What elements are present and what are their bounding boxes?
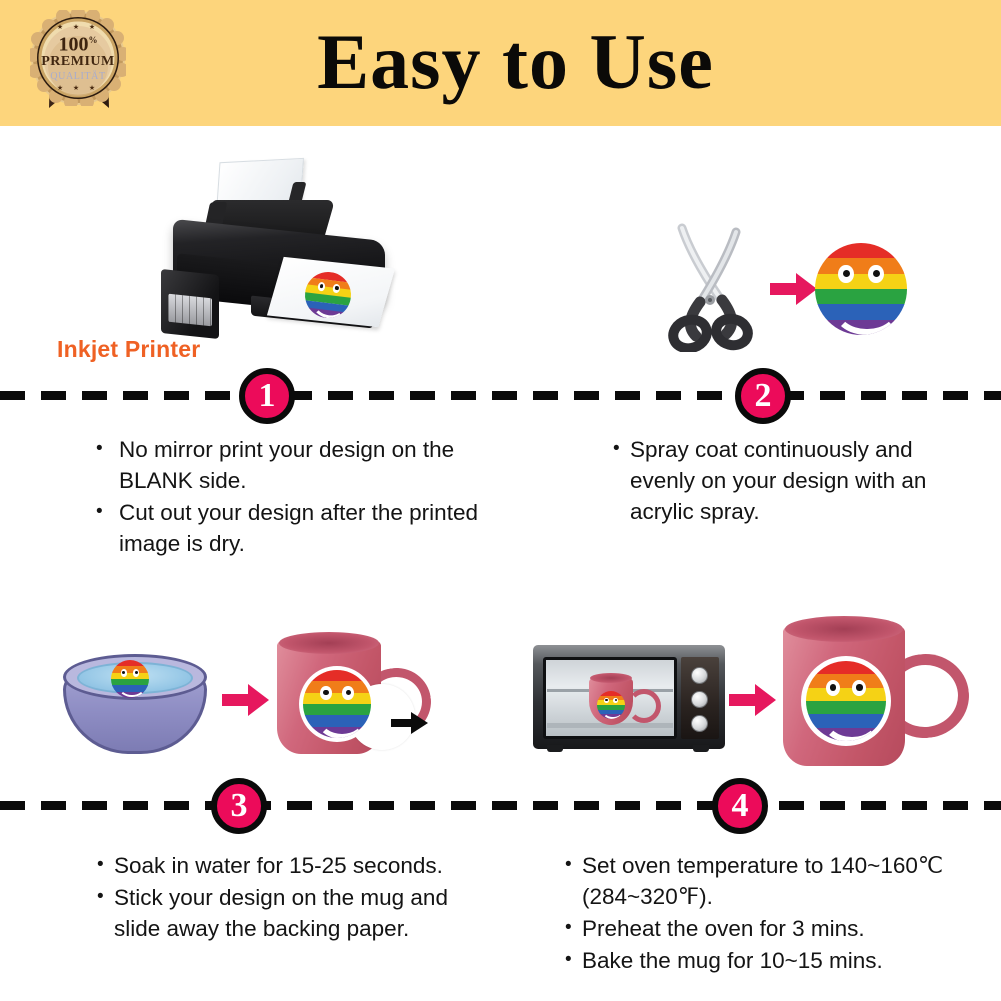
rainbow-smiley-on-final-mug (806, 661, 886, 741)
step-3-text: Soak in water for 15-25 seconds. Stick y… (97, 850, 497, 945)
step-number-4: 4 (712, 778, 768, 834)
rainbow-smiley-on-mug3 (303, 670, 371, 738)
step-2-text: Spray coat continuously and evenly on yo… (613, 434, 963, 528)
rainbow-smiley-decal-soaking (111, 660, 149, 698)
rainbow-smiley-on-oven-mug (597, 691, 625, 719)
oven-knob-1[interactable] (691, 667, 708, 684)
smiley-stripe (806, 661, 886, 675)
smiley-pupil-right (856, 684, 862, 690)
rainbow-smiley-decal-step2 (815, 243, 907, 335)
smiley-mouth (821, 693, 883, 741)
step-4-text: Set oven temperature to 140~160℃ (284~32… (565, 850, 965, 977)
smiley-mouth (832, 280, 901, 335)
mug3-rim (279, 632, 379, 654)
smiley-mouth (602, 702, 623, 719)
step-number-2: 2 (735, 368, 791, 424)
oven-knob-2[interactable] (691, 691, 708, 708)
oven-mug-rim (590, 673, 632, 683)
printed-rainbow-smiley-icon (302, 269, 353, 320)
smiley-pupil-left (830, 684, 836, 690)
smiley-pupil-right (335, 286, 339, 290)
arrow-right-icon-backing-slide (391, 712, 429, 734)
step-3-mug-with-decal (265, 622, 425, 762)
smiley-pupil-right (135, 671, 138, 674)
step-2-illustration (660, 222, 770, 352)
page-title: Easy to Use (0, 12, 1001, 112)
arrow-right-icon-step2 (770, 272, 818, 306)
step-1-illustration (155, 160, 425, 355)
step-3-bullet-1: Soak in water for 15-25 seconds. (97, 850, 497, 881)
step-4-toaster-oven (533, 645, 725, 757)
step-4-bullet-2: Preheat the oven for 3 mins. (565, 913, 965, 944)
printer-ink-tank-window (168, 294, 212, 327)
dashed-divider-top (0, 391, 1001, 400)
oven-foot-left (547, 745, 563, 752)
smiley-stripe (815, 258, 907, 274)
smiley-pupil-left (843, 270, 850, 277)
smiley-stripe (303, 670, 371, 682)
step-number-1: 1 (239, 368, 295, 424)
smiley-stripe (806, 674, 886, 688)
step-1-bullet-2: Cut out your design after the printed im… (96, 497, 496, 559)
smiley-mouth (118, 675, 146, 697)
step-4-bullet-3: Bake the mug for 10~15 mins. (565, 945, 965, 976)
step-number-3: 3 (211, 778, 267, 834)
step-1-text: No mirror print your design on the BLANK… (96, 434, 496, 560)
oven-foot-right (693, 745, 709, 752)
inkjet-printer-label: Inkjet Printer (57, 336, 200, 363)
step-4-finished-mug (775, 612, 955, 772)
step-2-bullet-1: Spray coat continuously and evenly on yo… (613, 434, 963, 527)
arrow-right-icon-step4 (729, 683, 777, 717)
oven-knob-3[interactable] (691, 715, 708, 732)
final-mug-rim (785, 616, 903, 642)
step-3-water-bowl (55, 640, 215, 760)
scissors-icon (660, 222, 770, 352)
step-1-bullet-1: No mirror print your design on the BLANK… (96, 434, 496, 496)
step-4-bullet-1: Set oven temperature to 140~160℃ (284~32… (565, 850, 965, 912)
smiley-stripe (303, 681, 371, 693)
header-banner: ★ ★ ★ 100% PREMIUM QUALITÄT ★ ★ ★ Easy t… (0, 0, 1001, 126)
dashed-divider-bottom (0, 801, 1001, 810)
smiley-stripe (815, 243, 907, 259)
smiley-mouth (316, 697, 368, 738)
arrow-right-icon-step3 (222, 683, 270, 717)
step-3-bullet-2: Stick your design on the mug and slide a… (97, 882, 497, 944)
smiley-pupil-left (323, 690, 328, 695)
